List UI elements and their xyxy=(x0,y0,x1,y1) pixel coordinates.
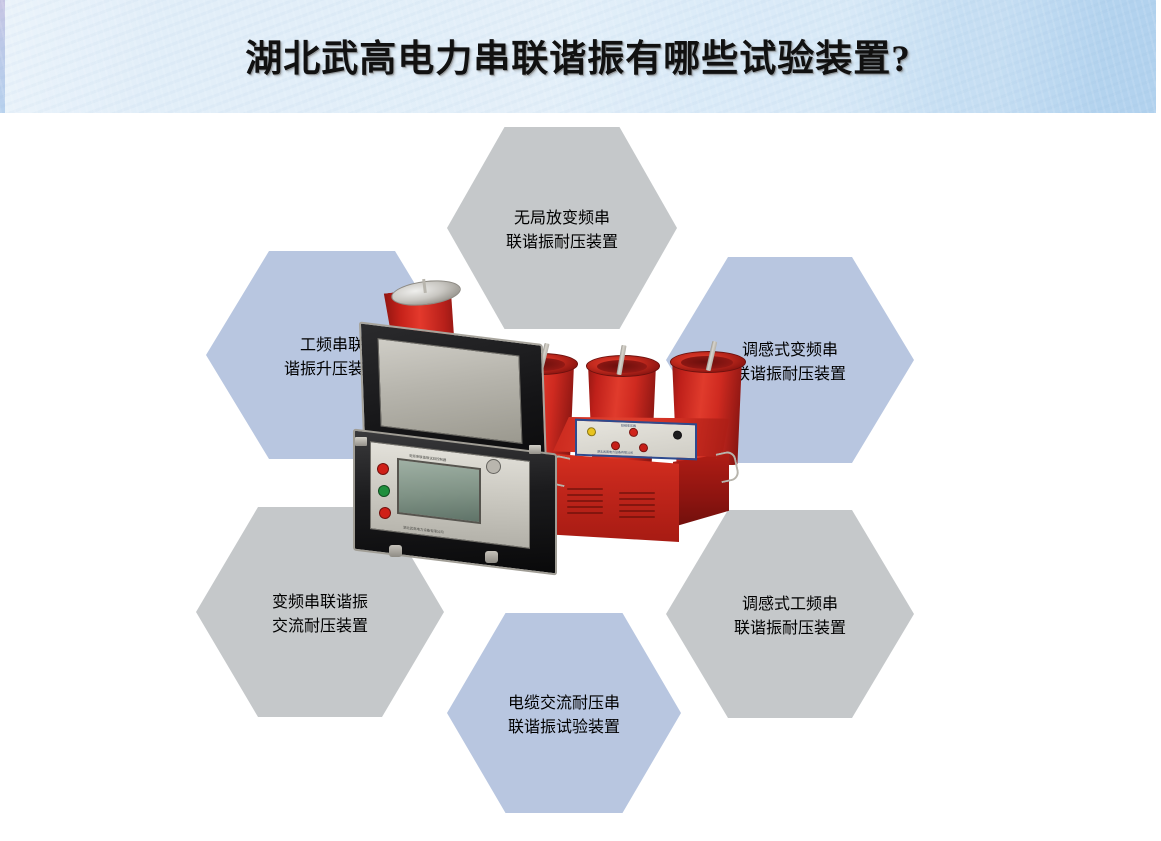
excitation-box-vent xyxy=(567,500,603,502)
terminal-yellow xyxy=(587,427,596,436)
case-clasp-left[interactable] xyxy=(355,437,367,446)
case-button-red-top[interactable] xyxy=(377,463,389,475)
excitation-brand-caption: 湖北武高电力设备有限公司 xyxy=(597,450,633,455)
page-title: 湖北武高电力串联谐振有哪些试验装置? xyxy=(0,28,1156,82)
product-photo: 励磁变压器 湖北武高电力设备有限公司 变频串联谐振试验控制器 湖北武高电力设备有… xyxy=(335,275,795,600)
case-lid-inner-plate xyxy=(378,338,523,444)
excitation-box-vent xyxy=(567,488,603,490)
excitation-transformer-box: 励磁变压器 湖北武高电力设备有限公司 xyxy=(553,417,729,543)
case-rotary-encoder[interactable] xyxy=(486,459,501,474)
hexagon-cable-ac-withstand[interactable] xyxy=(447,613,681,813)
case-foot-left xyxy=(389,545,402,557)
slide-canvas: 湖北武高电力串联谐振有哪些试验装置? xyxy=(0,0,1161,841)
case-lcd-screen xyxy=(397,458,481,524)
terminal-red-3 xyxy=(639,443,648,452)
case-clasp-right[interactable] xyxy=(529,445,541,454)
terminal-red-2 xyxy=(611,441,620,450)
terminal-black xyxy=(673,430,682,439)
excitation-box-vent xyxy=(567,512,603,514)
excitation-box-vent xyxy=(619,498,655,500)
excitation-box-terminal-panel: 励磁变压器 湖北武高电力设备有限公司 xyxy=(575,419,697,461)
excitation-panel-caption: 励磁变压器 xyxy=(621,423,636,428)
case-button-red-bottom[interactable] xyxy=(379,507,391,519)
excitation-box-front-face xyxy=(553,450,679,542)
excitation-box-vent xyxy=(567,506,603,508)
excitation-box-vent xyxy=(567,494,603,496)
excitation-box-vent xyxy=(619,504,655,506)
terminal-red-1 xyxy=(629,428,638,437)
excitation-box-vent xyxy=(619,492,655,494)
excitation-box-vent xyxy=(619,510,655,512)
excitation-box-vent xyxy=(619,516,655,518)
control-instrument-case: 变频串联谐振试验控制器 湖北武高电力设备有限公司 xyxy=(353,333,565,565)
case-button-green[interactable] xyxy=(378,485,390,497)
case-foot-right xyxy=(485,551,498,563)
